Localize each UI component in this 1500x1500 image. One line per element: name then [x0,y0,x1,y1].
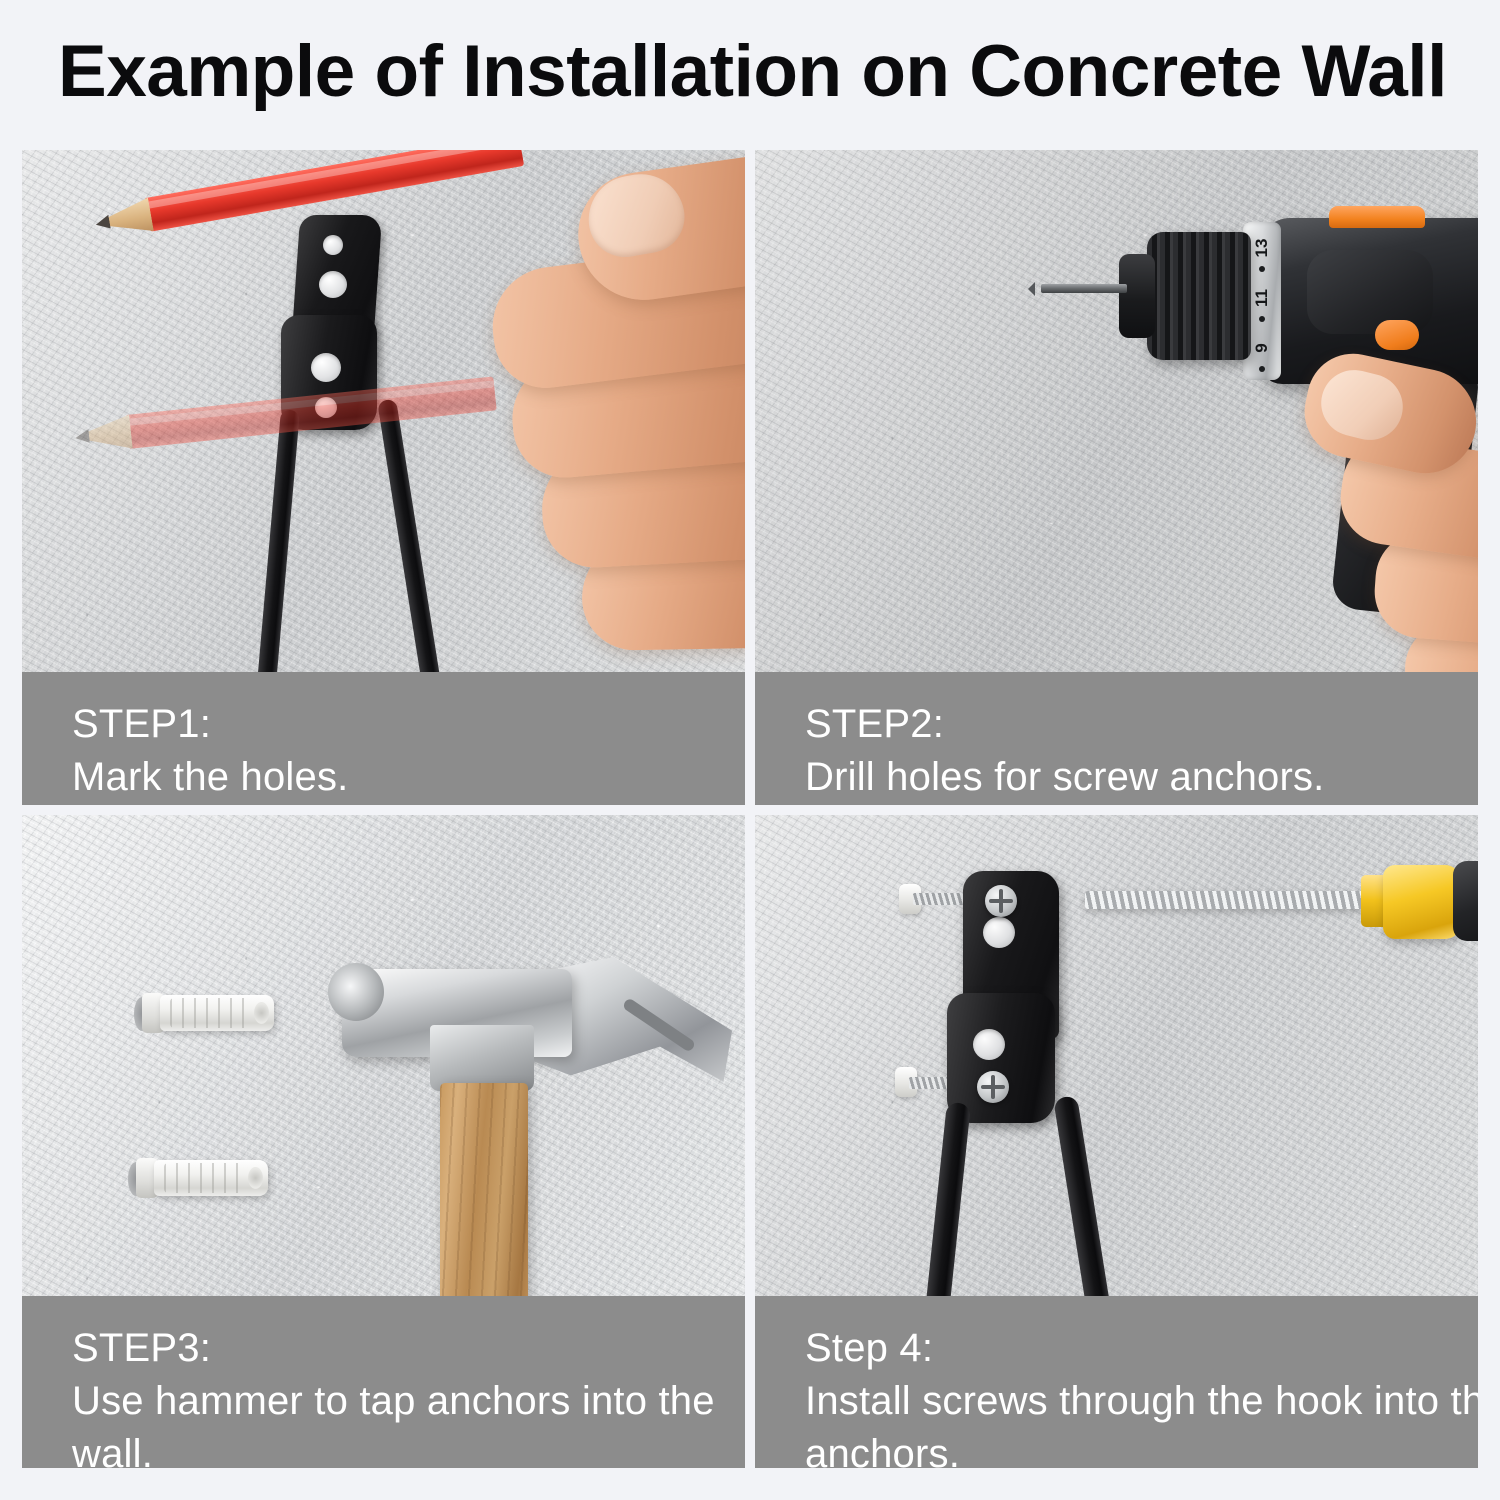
infographic-page: Example of Installation on Concrete Wall [0,0,1500,1500]
page-title: Example of Installation on Concrete Wall [58,26,1458,118]
step-1-caption: STEP1: Mark the holes. [22,672,745,805]
step-panel-2: 13 11 9 STEP2: Drill [755,150,1478,805]
clutch-dot-icon [1259,266,1265,272]
step-1-label: STEP1: [72,698,745,751]
claw-hammer-illustration [322,945,742,1345]
step-3-caption: STEP3: Use hammer to tap anchors into th… [22,1296,745,1468]
hook-arm-left [256,409,300,700]
clutch-dot-icon [1259,366,1265,372]
plastic-wall-anchor [142,995,274,1031]
clutch-number-11: 11 [1252,279,1272,317]
anchor-ribs [170,998,248,1028]
clutch-number-9: 9 [1252,329,1272,367]
step-1-text-line-1: Mark the holes. [72,751,745,804]
plastic-wall-anchor [136,1160,268,1196]
screwdriver-illustration [1085,855,1478,1005]
step-4-text-line-2: anchors. [805,1428,1478,1468]
step-panel-3: STEP3: Use hammer to tap anchors into th… [22,815,745,1468]
drill-direction-switch[interactable] [1375,320,1419,350]
step-3-label: STEP3: [72,1322,745,1375]
anchor-ribs [164,1163,242,1193]
step-4-label: Step 4: [805,1322,1478,1375]
screwdriver-yellow-grip [1383,865,1461,939]
step-panel-4: Step 4: Install screws through the hook … [755,815,1478,1468]
step-panel-1: STEP1: Mark the holes. [22,150,745,805]
step-2-text-line-1: Drill holes for screw anchors. [805,751,1478,804]
step-4-text-line-1: Install screws through the hook into the [805,1375,1478,1428]
steps-grid: STEP1: Mark the holes. 13 11 9 [22,150,1478,1468]
drill-chuck [1147,232,1251,360]
clutch-number-13: 13 [1252,229,1272,267]
human-hand-illustration [392,155,745,715]
step-3-text-line-1: Use hammer to tap anchors into the [72,1375,745,1428]
mounting-hole-icon [311,353,341,382]
screw-head-icon [985,885,1017,917]
mounting-hole-icon [983,917,1015,948]
drill-grip-pad [1307,250,1433,334]
step-3-text-line-2: wall. [72,1428,745,1468]
drill-chuck-nose [1119,254,1155,338]
step-4-caption: Step 4: Install screws through the hook … [755,1296,1478,1468]
mounting-hole-icon [973,1029,1005,1060]
drill-bit-icon [1041,284,1127,293]
step-2-caption: STEP2: Drill holes for screw anchors. [755,672,1478,805]
mounting-hole-icon [319,271,347,298]
mounting-hole-icon [323,235,343,255]
screw-head-icon [977,1071,1009,1103]
step-2-label: STEP2: [805,698,1478,751]
screwdriver-shaft [1085,891,1367,909]
drill-top-orange-accent [1329,206,1425,228]
hammer-striking-face [328,963,384,1021]
clutch-dot-icon [1259,316,1265,322]
hammer-neck [430,1025,534,1091]
screwdriver-black-handle [1453,861,1478,941]
